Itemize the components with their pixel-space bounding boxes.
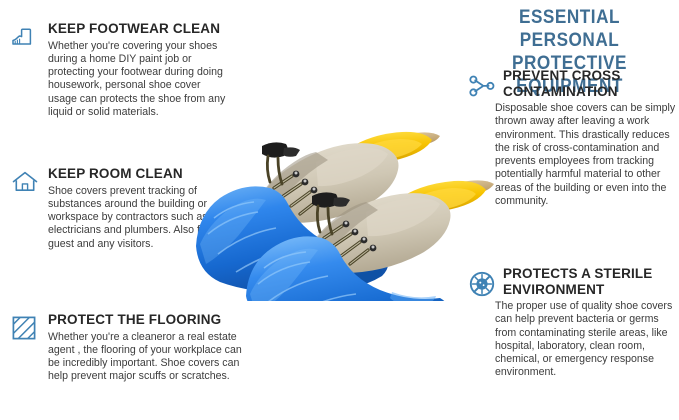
section-heading: PREVENT CROSS CONTAMINATION bbox=[503, 68, 679, 99]
section-heading: KEEP ROOM CLEAN bbox=[48, 166, 218, 182]
boot-icon bbox=[10, 22, 40, 52]
floor-tile-icon bbox=[10, 313, 40, 343]
section-text: PROTECTS A STERILE ENVIRONMENT The prope… bbox=[503, 266, 679, 380]
house-icon bbox=[10, 167, 40, 197]
section-body: Disposable shoe covers can be simply thr… bbox=[495, 102, 679, 208]
section-body: Whether you're a cleaneror a real estate… bbox=[48, 331, 248, 384]
section-heading: PROTECTS A STERILE ENVIRONMENT bbox=[503, 266, 679, 297]
infographic-page: ESSENTIAL PERSONAL PROTECTIVE EQUIPMENT … bbox=[0, 0, 679, 420]
section-body: Shoe covers prevent tracking of substanc… bbox=[48, 185, 218, 251]
section-text: PREVENT CROSS CONTAMINATION Disposable s… bbox=[503, 68, 679, 208]
section-heading: KEEP FOOTWEAR CLEAN bbox=[48, 21, 228, 37]
shoes-with-blue-shoe-covers-photo bbox=[196, 96, 496, 301]
section-body: The proper use of quality shoe covers ca… bbox=[495, 300, 679, 380]
section-heading: PROTECT THE FLOORING bbox=[48, 312, 248, 328]
section-text: PROTECT THE FLOORING Whether you're a cl… bbox=[48, 312, 248, 384]
section-text: KEEP ROOM CLEAN Shoe covers prevent trac… bbox=[48, 166, 218, 251]
